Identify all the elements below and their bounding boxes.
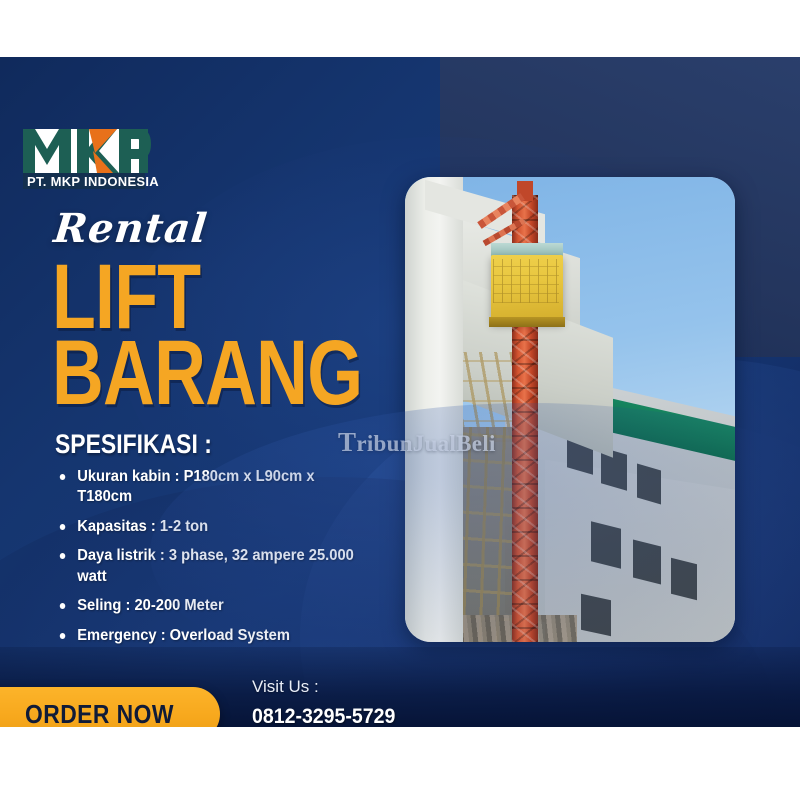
mkpi-logo: PT. MKP INDONESIA bbox=[15, 127, 160, 195]
photo-hoist-cabin-mesh bbox=[493, 259, 559, 303]
specs-heading: SPESIFIKASI : bbox=[55, 429, 212, 460]
eyebrow-rental: Rental bbox=[52, 205, 210, 252]
promotional-poster: PT. MKP INDONESIA Rental LIFT BARANG SPE… bbox=[0, 0, 800, 788]
poster-panel: PT. MKP INDONESIA Rental LIFT BARANG SPE… bbox=[0, 57, 800, 727]
order-now-label: ORDER NOW bbox=[25, 699, 174, 728]
photo-hoist-cabin-base bbox=[489, 317, 565, 327]
logo-subtitle-text: PT. MKP INDONESIA bbox=[27, 174, 159, 189]
contact-phone[interactable]: 0812-3295-5729 bbox=[252, 705, 395, 727]
visit-us-label: Visit Us : bbox=[252, 677, 319, 697]
order-now-button[interactable]: ORDER NOW bbox=[0, 687, 220, 727]
mkpi-logo-icon: PT. MKP INDONESIA bbox=[15, 127, 160, 195]
headline-line-2: BARANG bbox=[52, 331, 362, 416]
